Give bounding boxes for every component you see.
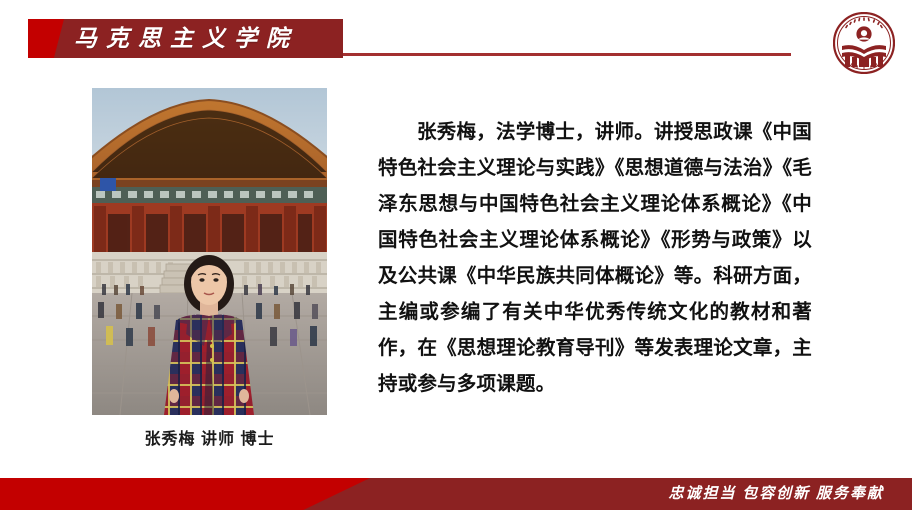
page-title: 马克思主义学院 (74, 19, 298, 58)
portrait-photo (92, 88, 327, 415)
header-divider-rule (343, 53, 791, 56)
slide-root: 马克思主义学院 (0, 0, 912, 510)
slide-header: 马克思主义学院 (0, 0, 912, 90)
slide-footer: 忠诚担当 包容创新 服务奉献 (0, 478, 912, 510)
marxism-college-seal-logo (833, 12, 895, 74)
bio-paragraph: 张秀梅，法学博士，讲师。讲授思政课《中国特色社会主义理论与实践》《思想道德与法治… (378, 114, 812, 402)
photo-caption: 张秀梅 讲师 博士 (92, 425, 327, 449)
footer-slogan: 忠诚担当 包容创新 服务奉献 (668, 478, 884, 510)
